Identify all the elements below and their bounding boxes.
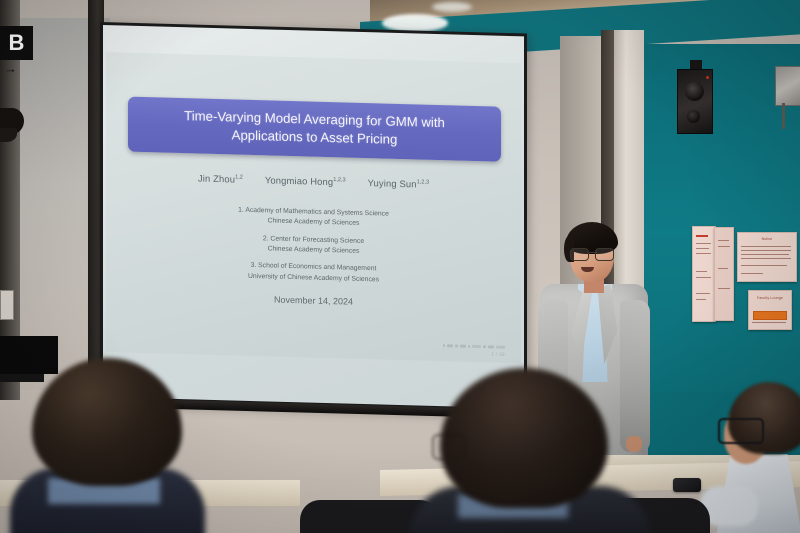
nav-dot[interactable] <box>455 345 458 348</box>
exit-arrow-icon: → <box>4 62 30 75</box>
author-2: Yongmiao Hong1,2,3 <box>265 174 346 187</box>
affiliation-3: 3. School of Economics and Management Un… <box>106 257 521 289</box>
audience-member-left <box>10 358 200 533</box>
wall-poster-notice: Notice <box>737 232 797 282</box>
author-2-marks: 1,2,3 <box>333 177 345 183</box>
exit-sign: B <box>0 26 33 60</box>
ceiling-light-secondary <box>432 2 472 12</box>
wall-mounted-device <box>775 66 800 106</box>
presenter-glasses-icon <box>570 248 614 260</box>
affiliation-3-line2: University of Chinese Academy of Science… <box>248 272 379 283</box>
audience-member-center <box>410 368 640 533</box>
author-2-name: Yongmiao Hong <box>265 174 333 187</box>
nav-segment[interactable] <box>488 346 494 349</box>
audience-left-head <box>32 358 182 486</box>
wall-poster-left-2 <box>714 227 734 321</box>
speaker-cone-upper <box>685 82 704 101</box>
smartphone-on-desk[interactable] <box>673 478 701 492</box>
nav-dot[interactable] <box>468 345 471 348</box>
nav-segment[interactable] <box>447 345 453 348</box>
affiliation-2-line1: Center for Forecasting Science <box>270 235 364 245</box>
nav-dot[interactable] <box>443 345 446 348</box>
presentation-slide: Time-Varying Model Averaging for GMM wit… <box>106 52 521 363</box>
affiliation-2-number: 2. <box>263 235 269 242</box>
poster-notice-title: Notice <box>738 237 796 241</box>
author-3-name: Yuying Sun <box>368 177 417 189</box>
nav-segment[interactable] <box>460 345 466 348</box>
affiliation-2-line2: Chinese Academy of Sciences <box>268 245 360 254</box>
poster-highlight-band <box>753 311 787 320</box>
wall-poster-left <box>692 226 716 322</box>
nav-segment-wide[interactable] <box>472 345 481 348</box>
affiliation-1-number: 1. <box>238 207 244 214</box>
author-1: Jin Zhou1,2 <box>198 172 243 184</box>
affiliation-1-line1: Academy of Mathematics and Systems Scien… <box>245 207 389 218</box>
affiliation-1-line2: Chinese Academy of Sciences <box>268 218 360 227</box>
wall-poster-lounge: Faculty Lounge <box>748 290 792 330</box>
nav-dot[interactable] <box>483 346 486 349</box>
slide-authors: Jin Zhou1,2Yongmiao Hong1,2,3Yuying Sun1… <box>106 170 521 192</box>
speaker-led-indicator <box>706 76 709 79</box>
author-3-marks: 1,2,3 <box>417 179 429 185</box>
slide-title-banner: Time-Varying Model Averaging for GMM wit… <box>128 97 501 162</box>
wall-switch-plate[interactable] <box>0 290 14 320</box>
affiliation-3-line1: School of Economics and Management <box>258 262 376 272</box>
poster-lounge-title: Faculty Lounge <box>749 296 791 300</box>
affiliation-3-number: 3. <box>251 262 257 269</box>
presentation-room-photo: B → Notice Faculty Lounge <box>0 0 800 533</box>
glasses-lens-right <box>595 248 614 261</box>
slide-affiliations: 1. Academy of Mathematics and Systems Sc… <box>106 202 521 296</box>
audience-member-right <box>700 382 800 532</box>
author-3: Yuying Sun1,2,3 <box>368 177 429 190</box>
author-1-marks: 1,2 <box>235 174 243 180</box>
author-1-name: Jin Zhou <box>198 172 235 184</box>
speaker-cone-lower <box>687 110 700 123</box>
affiliation-2: 2. Center for Forecasting Science Chines… <box>106 230 521 262</box>
wall-speaker-icon <box>677 69 713 134</box>
beamer-navigation-bar[interactable] <box>443 345 505 349</box>
glasses-lens-left <box>570 248 589 261</box>
wall-device-cable <box>782 103 785 129</box>
audience-right-glasses-icon <box>718 418 764 444</box>
audience-center-glasses-icon <box>432 434 466 460</box>
exit-sign-letter: B <box>9 32 25 54</box>
slide-page-indicator: 1 / 33 <box>491 351 505 356</box>
nav-segment-wide[interactable] <box>496 346 505 349</box>
affiliation-1: 1. Academy of Mathematics and Systems Sc… <box>106 202 521 234</box>
